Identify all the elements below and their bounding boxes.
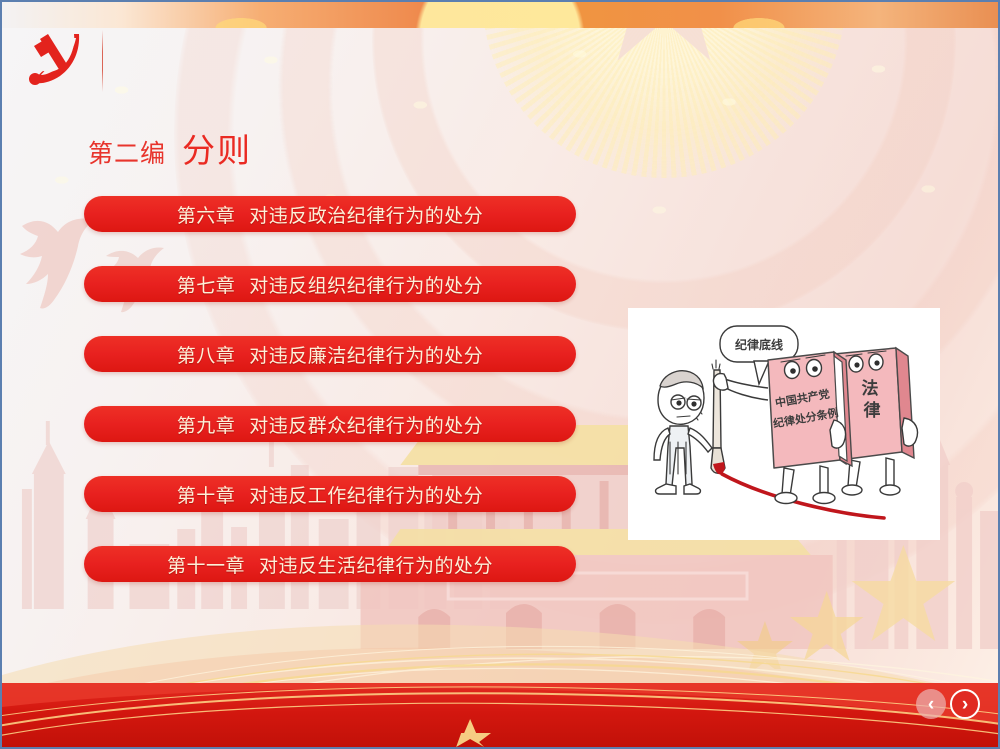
chapter-label-11: 第十一章对违反生活纪律行为的处分 [167, 551, 493, 578]
prev-slide-button[interactable]: ‹ [916, 689, 946, 719]
page-title: 第二编 分则 [88, 124, 252, 172]
chapter-list: 第六章对违反政治纪律行为的处分 第七章对违反组织纪律行为的处分 第八章对违反廉洁… [84, 196, 576, 616]
cartoon-illustration-panel: .ln { fill:none; stroke:#3a3a3a; stroke-… [628, 308, 940, 540]
chapter-number-9: 第九章 [177, 416, 236, 437]
slide-navigation: ‹ › [916, 689, 980, 719]
chapter-item-10[interactable]: 第十章对违反工作纪律行为的处分 [84, 476, 576, 512]
chapter-name-10: 对违反工作纪律行为的处分 [249, 486, 483, 507]
chapter-number-6: 第六章 [177, 206, 236, 227]
chevron-right-icon: › [962, 695, 968, 714]
chapter-item-6[interactable]: 第六章对违反政治纪律行为的处分 [84, 196, 576, 232]
chapter-label-10: 第十章对违反工作纪律行为的处分 [177, 481, 484, 508]
chapter-item-7[interactable]: 第七章对违反组织纪律行为的处分 [84, 266, 576, 302]
chapter-label-8: 第八章对违反廉洁纪律行为的处分 [177, 341, 484, 368]
chapter-name-8: 对违反廉洁纪律行为的处分 [249, 346, 483, 367]
party-hammer-sickle-icon [24, 30, 90, 92]
chapter-item-8[interactable]: 第八章对违反廉洁纪律行为的处分 [84, 336, 576, 372]
chapter-name-9: 对违反群众纪律行为的处分 [249, 416, 483, 437]
chapter-number-8: 第八章 [177, 346, 236, 367]
title-main: 分则 [182, 124, 252, 172]
chapter-name-7: 对违反组织纪律行为的处分 [249, 276, 483, 297]
person-character [654, 371, 712, 494]
discipline-cartoon: .ln { fill:none; stroke:#3a3a3a; stroke-… [628, 308, 940, 540]
next-slide-button[interactable]: › [950, 689, 980, 719]
bottom-red-band [2, 683, 998, 747]
chapter-item-9[interactable]: 第九章对违反群众纪律行为的处分 [84, 406, 576, 442]
slide-canvas: 第二编 分则 第六章对违反政治纪律行为的处分 第七章对违反组织纪律行为的处分 第… [2, 2, 998, 747]
chevron-left-icon: ‹ [928, 695, 934, 714]
chapter-name-11: 对违反生活纪律行为的处分 [259, 556, 493, 577]
speech-bubble-text: 纪律底线 [735, 337, 783, 352]
chapter-label-9: 第九章对违反群众纪律行为的处分 [177, 411, 484, 438]
book-law-label: 法 [862, 378, 879, 398]
svg-text:律: 律 [863, 400, 881, 420]
presentation-window: 第二编 分则 第六章对违反政治纪律行为的处分 第七章对违反组织纪律行为的处分 第… [0, 0, 1000, 749]
emblem-divider [102, 30, 103, 92]
chapter-label-6: 第六章对违反政治纪律行为的处分 [177, 201, 484, 228]
title-prefix: 第二编 [88, 134, 166, 170]
top-band-glow [2, 2, 998, 28]
chapter-number-11: 第十一章 [167, 556, 245, 577]
chapter-item-11[interactable]: 第十一章对违反生活纪律行为的处分 [84, 546, 576, 582]
chapter-number-10: 第十章 [177, 486, 236, 507]
chapter-name-6: 对违反政治纪律行为的处分 [249, 206, 483, 227]
chapter-number-7: 第七章 [177, 276, 236, 297]
party-emblem-header [24, 30, 103, 92]
chapter-label-7: 第七章对违反组织纪律行为的处分 [177, 271, 484, 298]
